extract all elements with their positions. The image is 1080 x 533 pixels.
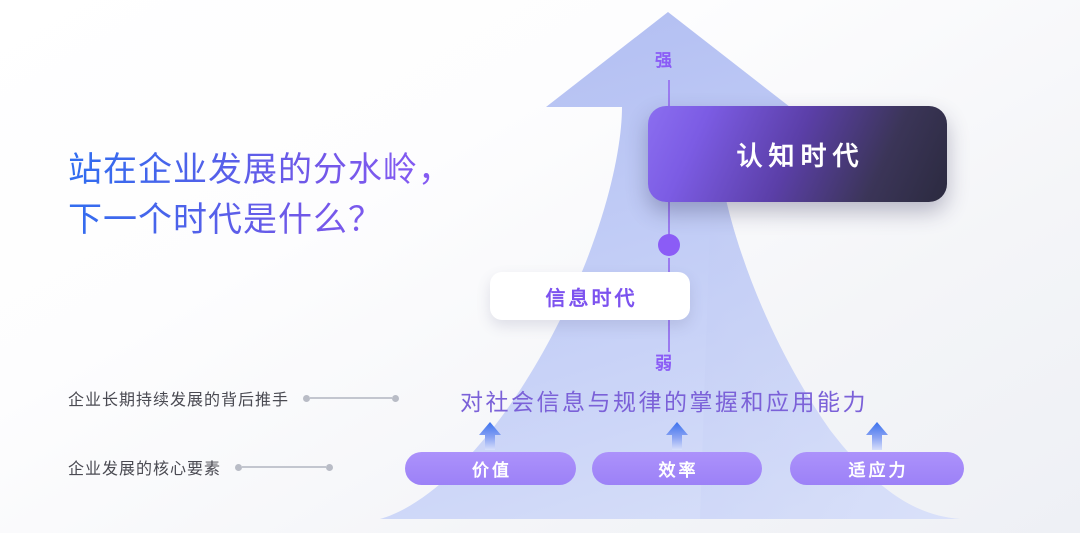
core-element-label: 效率: [656, 456, 699, 481]
connector-line-driver: [303, 395, 399, 402]
era-card-information[interactable]: 信息时代: [490, 272, 690, 320]
core-element-label: 价值: [469, 456, 512, 481]
core-element-pill-value[interactable]: 价值: [405, 452, 576, 485]
annotation-row-core: 企业发展的核心要素: [68, 455, 333, 479]
slide-canvas: 站在企业发展的分水岭， 下一个时代是什么？ 强 弱 认知时代 信息时代 企业长期…: [0, 0, 1080, 533]
annotation-label-driver: 企业长期持续发展的背后推手: [68, 386, 289, 410]
page-title: 站在企业发展的分水岭， 下一个时代是什么？: [68, 145, 453, 246]
statement-capability: 对社会信息与规律的掌握和应用能力: [460, 383, 868, 417]
core-element-label: 适应力: [846, 456, 909, 481]
era-card-cognitive-label: 认知时代: [730, 136, 864, 173]
connector-dot-right: [392, 395, 399, 402]
mini-arrow-adaptability: [866, 422, 888, 450]
core-element-pill-adaptability[interactable]: 适应力: [790, 452, 964, 485]
mini-arrow-efficiency: [666, 422, 688, 450]
connector-stroke: [310, 397, 392, 399]
axis-label-strong: 强: [655, 46, 672, 71]
connector-line-core: [235, 464, 333, 471]
core-element-pill-efficiency[interactable]: 效率: [592, 452, 762, 485]
axis-line-bottom: [668, 316, 670, 352]
era-card-information-label: 信息时代: [543, 282, 638, 311]
annotation-row-driver: 企业长期持续发展的背后推手: [68, 386, 399, 410]
connector-dot-right: [326, 464, 333, 471]
mini-arrow-value: [479, 422, 501, 450]
era-card-cognitive[interactable]: 认知时代: [648, 106, 947, 202]
axis-label-weak: 弱: [655, 349, 672, 374]
connector-stroke: [242, 466, 326, 468]
axis-node-dot: [658, 234, 680, 256]
connector-dot-left: [235, 464, 242, 471]
connector-dot-left: [303, 395, 310, 402]
annotation-label-core: 企业发展的核心要素: [68, 455, 221, 479]
